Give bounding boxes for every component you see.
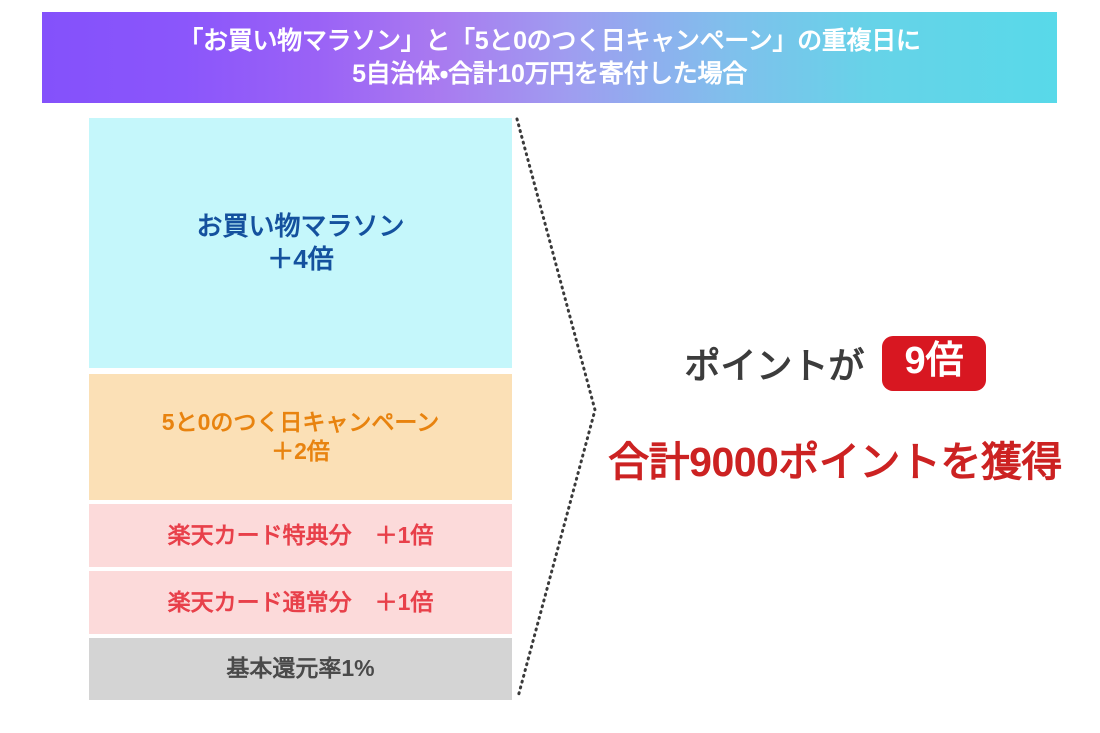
bar-segment-five-zero-day: 5と0のつく日キャンペーン ＋2倍 bbox=[89, 374, 512, 500]
bar-segment-card-bonus: 楽天カード特典分 ＋1倍 bbox=[89, 504, 512, 567]
bar-segment-base-rate: 基本還元率1% bbox=[89, 638, 512, 700]
bar-segment-five-zero-day-value: ＋2倍 bbox=[271, 437, 330, 466]
header-banner: 「お買い物マラソン」と「5と0のつく日キャンペーン」の重複日に 5自治体・合計1… bbox=[42, 12, 1057, 103]
total-points-text: 合計9000ポイントを獲得 bbox=[590, 428, 1080, 488]
header-line-2: 5自治体・合計10万円を寄付した場合 bbox=[352, 58, 747, 91]
chevron-dotted-path bbox=[517, 119, 595, 697]
bar-segment-five-zero-day-label: 5と0のつく日キャンペーン bbox=[162, 408, 439, 437]
bar-segment-marathon: お買い物マラソン ＋4倍 bbox=[89, 118, 512, 368]
points-multiplier-row: ポイントが 9倍 bbox=[600, 336, 1070, 391]
header-line-1: 「お買い物マラソン」と「5と0のつく日キャンペーン」の重複日に bbox=[178, 25, 920, 58]
bar-segment-card-normal: 楽天カード通常分 ＋1倍 bbox=[89, 571, 512, 634]
bar-segment-marathon-value: ＋4倍 bbox=[267, 243, 333, 276]
points-label: ポイントが bbox=[684, 337, 864, 389]
bar-segment-card-normal-label: 楽天カード通常分 ＋1倍 bbox=[168, 588, 434, 617]
bar-segment-base-rate-label: 基本還元率1% bbox=[226, 654, 374, 683]
infographic-canvas: 「お買い物マラソン」と「5と0のつく日キャンペーン」の重複日に 5自治体・合計1… bbox=[0, 0, 1100, 733]
multiplier-badge: 9倍 bbox=[882, 336, 985, 391]
stacked-bar-chart: お買い物マラソン ＋4倍 5と0のつく日キャンペーン ＋2倍 楽天カード特典分 … bbox=[89, 118, 512, 700]
bar-segment-card-bonus-label: 楽天カード特典分 ＋1倍 bbox=[168, 521, 434, 550]
result-panel: ポイントが 9倍 合計9000ポイントを獲得 bbox=[600, 320, 1100, 520]
bar-segment-marathon-label: お買い物マラソン bbox=[196, 210, 404, 243]
